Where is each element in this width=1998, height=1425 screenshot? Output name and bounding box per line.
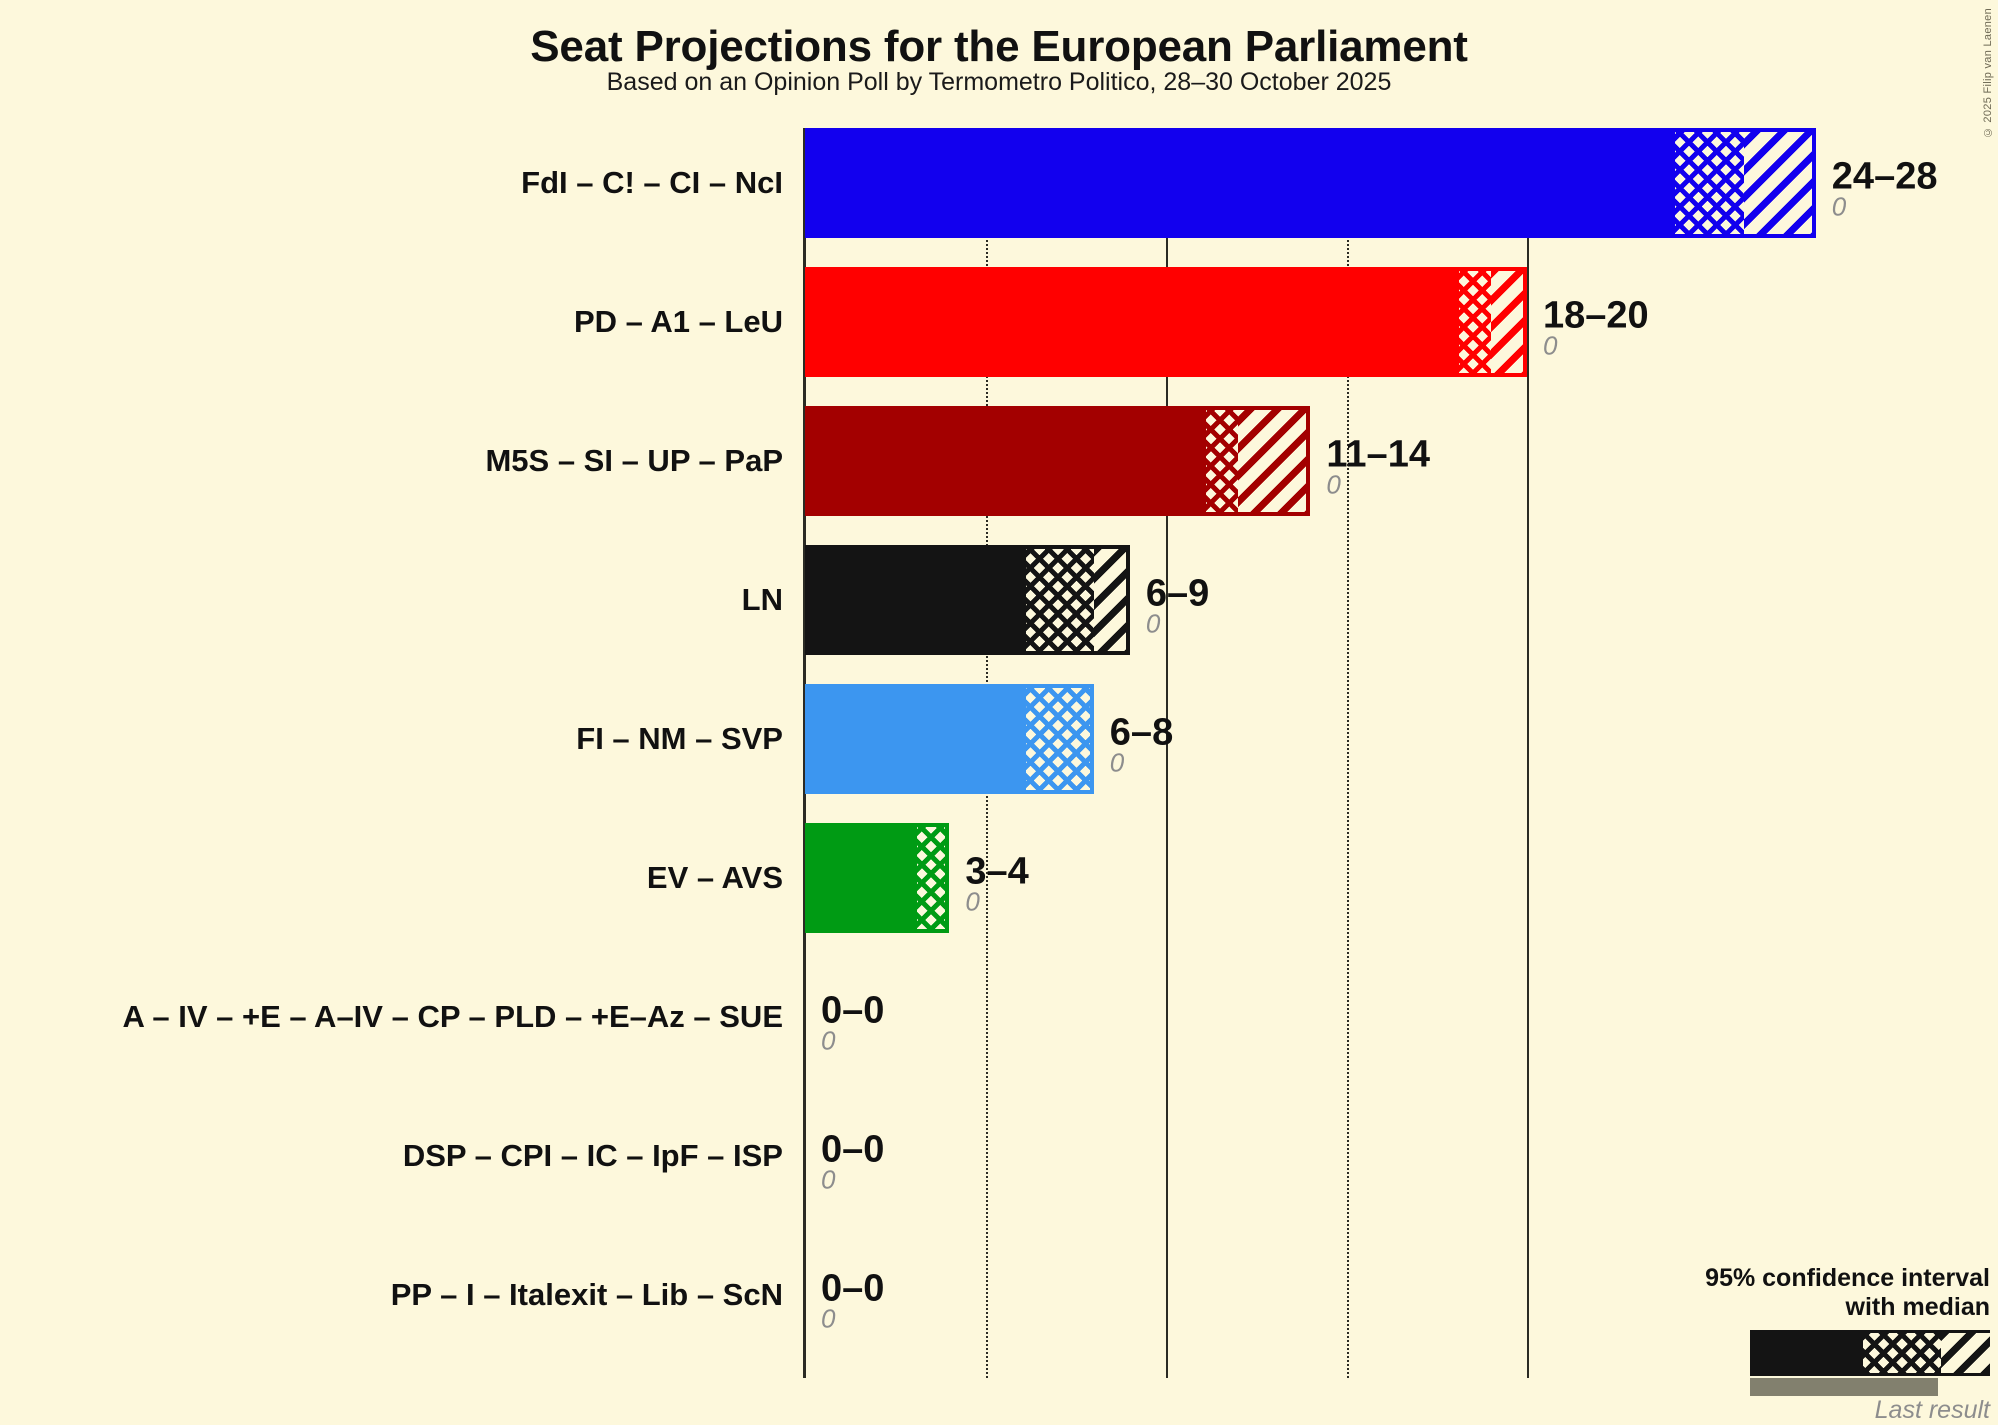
last-result-value: 0 (821, 1026, 835, 1057)
bar-row: M5S – SI – UP – PaP11–140 (805, 406, 1998, 516)
bar-lower-bound-fill (805, 684, 1022, 794)
bar-lower-bound-fill (805, 406, 1202, 516)
legend-median-hatch (1863, 1333, 1941, 1373)
bar-lower-bound-fill (805, 267, 1455, 377)
bar-lower-bound-fill (805, 823, 913, 933)
category-label: EV – AVS (647, 860, 783, 896)
page-title: Seat Projections for the European Parlia… (0, 22, 1998, 72)
legend-last-result-label: Last result (1570, 1396, 1990, 1425)
legend-line-2: with median (1570, 1293, 1990, 1322)
last-result-value: 0 (1146, 609, 1160, 640)
bar-lower-bound-fill (805, 128, 1671, 238)
confidence-interval-bar[interactable] (805, 128, 1816, 238)
legend-ci-bar (1750, 1330, 1990, 1376)
bar-row: LN6–90 (805, 545, 1998, 655)
confidence-interval-bar[interactable] (805, 267, 1527, 377)
legend-last-result-bar (1750, 1378, 1938, 1396)
bar-row: FI – NM – SVP6–80 (805, 684, 1998, 794)
category-label: FdI – C! – CI – NcI (521, 165, 783, 201)
confidence-interval-bar[interactable] (805, 684, 1094, 794)
copyright-notice: © 2025 Filip van Laenen (1982, 8, 1994, 138)
confidence-interval-bar[interactable] (805, 823, 949, 933)
last-result-value: 0 (965, 887, 979, 918)
category-label: PD – A1 – LeU (574, 304, 783, 340)
confidence-interval-bar[interactable] (805, 406, 1310, 516)
bar-row: DSP – CPI – IC – IpF – ISP0–00 (805, 1101, 1998, 1211)
chart-legend: 95% confidence interval with median Last… (1570, 1264, 1990, 1376)
bar-ci-outline (1022, 684, 1094, 794)
legend-upper-hatch (1941, 1333, 1990, 1373)
bar-row: EV – AVS3–40 (805, 823, 1998, 933)
value-range-label: 11–14 (1326, 433, 1430, 476)
legend-swatch-row: Last result (1570, 1330, 1990, 1376)
last-result-value: 0 (1832, 192, 1846, 223)
last-result-value: 0 (821, 1304, 835, 1335)
bar-row: A – IV – +E – A–IV – CP – PLD – +E–Az – … (805, 962, 1998, 1072)
plot-area: FdI – C! – CI – NcI24–280PD – A1 – LeU18… (805, 128, 1998, 1378)
bar-row: FdI – C! – CI – NcI24–280 (805, 128, 1998, 238)
last-result-value: 0 (1326, 470, 1340, 501)
category-label: M5S – SI – UP – PaP (485, 443, 783, 479)
confidence-interval-bar[interactable] (805, 545, 1130, 655)
category-label: PP – I – Italexit – Lib – ScN (391, 1277, 783, 1313)
bar-ci-outline (1671, 128, 1815, 238)
category-label: LN (742, 582, 783, 618)
category-label: DSP – CPI – IC – IpF – ISP (403, 1138, 783, 1174)
bar-ci-outline (1202, 406, 1310, 516)
bar-ci-outline (1455, 267, 1527, 377)
chart-subtitle: Based on an Opinion Poll by Termometro P… (0, 68, 1998, 97)
category-label: FI – NM – SVP (576, 721, 783, 757)
bar-ci-outline (913, 823, 949, 933)
chart-root: Seat Projections for the European Parlia… (0, 0, 1998, 1394)
bar-ci-outline (1022, 545, 1130, 655)
value-range-label: 18–20 (1543, 294, 1649, 337)
last-result-value: 0 (1110, 748, 1124, 779)
category-label: A – IV – +E – A–IV – CP – PLD – +E–Az – … (123, 999, 784, 1035)
last-result-value: 0 (821, 1165, 835, 1196)
value-range-label: 24–28 (1832, 155, 1938, 198)
bar-lower-bound-fill (805, 545, 1022, 655)
legend-line-1: 95% confidence interval (1570, 1264, 1990, 1293)
bar-row: PD – A1 – LeU18–200 (805, 267, 1998, 377)
last-result-value: 0 (1543, 331, 1557, 362)
